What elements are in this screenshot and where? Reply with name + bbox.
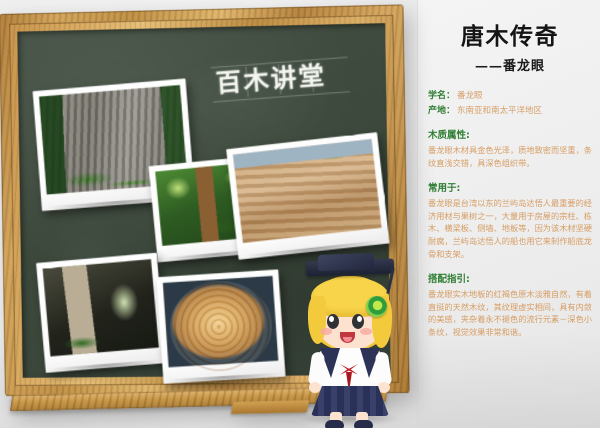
mascot-blush-right xyxy=(360,328,372,335)
field-label-origin: 产地： xyxy=(428,103,455,116)
mascot-blush-left xyxy=(320,328,332,335)
specimen-fields: 学名： 番龙眼 产地： 东南亚和南太平洋地区 xyxy=(428,88,592,116)
photo-image-buttress-roots xyxy=(43,259,159,356)
blackboard-heading-text: 百木讲堂 xyxy=(215,57,354,100)
mascot-eye-left xyxy=(327,314,339,329)
section-common-uses: 常用于: 番龙眼是台湾以东的兰屿岛达悟人最重要的经济用材与果树之一，大量用于房屋… xyxy=(428,180,592,260)
photo-image-wood-cross-section xyxy=(163,276,279,367)
section-wood-properties: 木质属性: 番龙眼木材具金色光泽，质地致密而坚重，条纹直浅交错，具深色组织带。 xyxy=(428,127,592,169)
field-label-scientific-name: 学名： xyxy=(428,88,455,101)
field-value-scientific-name: 番龙眼 xyxy=(457,89,483,101)
photo-image-stacked-logs xyxy=(233,139,382,243)
poster-canvas: 百木讲堂 xyxy=(0,0,600,428)
info-panel: 唐木传奇 ——番龙眼 学名： 番龙眼 产地： 东南亚和南太平洋地区 木质属性: … xyxy=(418,0,600,428)
graduation-cap-top-icon xyxy=(318,253,375,271)
spiral-hairclip-icon xyxy=(366,296,387,317)
photo-stacked-logs[interactable] xyxy=(226,132,389,260)
section-heading-wood-properties: 木质属性: xyxy=(428,127,592,141)
growth-rings xyxy=(167,279,276,368)
page-title: 唐木传奇 xyxy=(428,24,592,51)
section-body-common-uses: 番龙眼是台湾以东的兰屿岛达悟人最重要的经济用材与果树之一，大量用于房屋的宗柱、栋… xyxy=(428,197,592,260)
mascot-hair-side-left xyxy=(308,296,326,344)
section-heading-common-uses: 常用于: xyxy=(428,180,592,194)
field-row-origin: 产地： 东南亚和南太平洋地区 xyxy=(428,103,592,116)
page-subtitle: ——番龙眼 xyxy=(428,55,592,74)
mascot-shoe-right xyxy=(354,420,373,428)
section-body-pairing-guide: 番龙眼实木地板的红褐色原木淡雅自然，有着直挺的天然木纹，其纹理虚实相间，具有内敛… xyxy=(428,288,592,338)
section-pairing-guide: 搭配指引: 番龙眼实木地板的红褐色原木淡雅自然，有着直挺的天然木纹，其纹理虚实相… xyxy=(428,271,592,338)
mascot-pleated-skirt xyxy=(311,386,389,416)
field-row-scientific-name: 学名： 番龙眼 xyxy=(428,88,592,101)
photo-wood-cross-section[interactable] xyxy=(156,269,285,383)
graduate-girl-mascot xyxy=(294,252,406,428)
mascot-eye-right xyxy=(352,314,364,329)
mascot-shoe-left xyxy=(325,420,344,428)
section-heading-pairing-guide: 搭配指引: xyxy=(428,271,592,285)
mascot-hand-left xyxy=(309,382,321,393)
field-value-origin: 东南亚和南太平洋地区 xyxy=(457,104,542,116)
section-body-wood-properties: 番龙眼木材具金色光泽，质地致密而坚重，条纹直浅交错，具深色组织带。 xyxy=(428,144,592,169)
photo-buttress-roots[interactable] xyxy=(36,253,166,373)
